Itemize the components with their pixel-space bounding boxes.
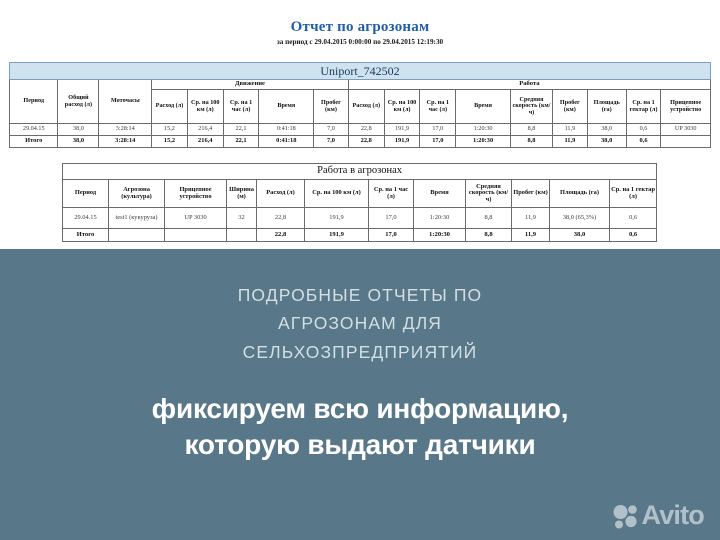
table-cell: 7,0 (314, 124, 349, 136)
col-movement-mileage: Пробег (км) (314, 90, 349, 124)
group-header-work: Работа (348, 80, 710, 90)
table-cell: UP 3030 (661, 124, 711, 136)
table2-col-6: Ср. на 1 час (л) (369, 180, 414, 208)
promo-subheading-line-2: СЕЛЬХОЗПРЕДПРИЯТИЙ (0, 338, 720, 366)
table2-col-11: Ср. на 1 гектар (л) (610, 180, 657, 208)
table-total-cell: 38,0 (58, 136, 99, 148)
avito-watermark: Avito (613, 502, 705, 529)
promo-heading-line-0: фиксируем всю информацию, (0, 391, 720, 427)
table-total-cell: 191,9 (384, 136, 420, 148)
promo-pane: ПОДРОБНЫЕ ОТЧЕТЫ ПОАГРОЗОНАМ ДЛЯСЕЛЬХОЗП… (0, 249, 720, 540)
promo-subheading-line-0: ПОДРОБНЫЕ ОТЧЕТЫ ПО (0, 281, 720, 309)
col-movement-time: Время (259, 90, 314, 124)
table-total-cell: 22,8 (257, 229, 305, 242)
col-work-avg-speed: Средняя скорость (км/ч) (510, 90, 552, 124)
table-total-cell (109, 229, 165, 242)
table-cell: 216,4 (187, 124, 223, 136)
col-work-implement: Прицепное устройство (661, 90, 711, 124)
table-total-cell (661, 136, 711, 148)
table-total-cell: 216,4 (187, 136, 223, 148)
table-total-cell: 15,2 (152, 136, 188, 148)
table2-body: 29.04.15test1 (кукуруза)UP 30303222,8191… (63, 208, 657, 242)
table-total-cell: 1:20:30 (456, 136, 511, 148)
table-total-cell: 1:20:30 (414, 229, 466, 242)
table-cell: 15,2 (152, 124, 188, 136)
table-total-cell: 17,0 (369, 229, 414, 242)
table2-col-1: Агрозона (культура) (109, 180, 165, 208)
table2-col-5: Ср. на 100 км (л) (305, 180, 369, 208)
table-cell: 11,9 (512, 208, 550, 229)
table2-col-3: Ширина (м) (227, 180, 257, 208)
col-work-area: Площадь (га) (587, 90, 626, 124)
table-total-cell: 7,0 (314, 136, 349, 148)
table-cell: 0:41:18 (259, 124, 314, 136)
table-total-cell: 22,8 (348, 136, 384, 148)
table-cell: 11,9 (553, 124, 588, 136)
table2-col-7: Время (414, 180, 466, 208)
table-cell: 1:20:30 (456, 124, 511, 136)
col-movement-avg-100km: Ср. на 100 км (л) (187, 90, 223, 124)
table-cell: 32 (227, 208, 257, 229)
table-cell: 0,6 (610, 208, 657, 229)
table-row: 29.04.15test1 (кукуруза)UP 30303222,8191… (63, 208, 657, 229)
table-cell: 191,9 (305, 208, 369, 229)
table-total-cell: 0,6 (626, 136, 661, 148)
promo-heading: фиксируем всю информацию,которую выдают … (0, 391, 720, 463)
promo-subheading: ПОДРОБНЫЕ ОТЧЕТЫ ПОАГРОЗОНАМ ДЛЯСЕЛЬХОЗП… (0, 281, 720, 366)
table-cell: 29.04.15 (10, 124, 58, 136)
table-total-cell: 38,0 (587, 136, 626, 148)
col-movement-avg-hour: Ср. на 1 час (л) (223, 90, 259, 124)
table-cell: 1:20:30 (414, 208, 466, 229)
table-total-cell: 11,9 (512, 229, 550, 242)
col-work-avg-100km: Ср. на 100 км (л) (384, 90, 420, 124)
table2-col-9: Пробег (км) (512, 180, 550, 208)
table-cell: 38,0 (58, 124, 99, 136)
table1-body: 29.04.1538,03:28:1415,2216,422,10:41:187… (10, 124, 711, 148)
avito-dots-icon (613, 503, 639, 529)
col-work-mileage: Пробег (км) (553, 90, 588, 124)
table-total-cell: 191,9 (305, 229, 369, 242)
col-work-per-hectare: Ср. на 1 гектар (л) (626, 90, 661, 124)
col-period: Период (10, 80, 58, 124)
table-caption-row: Uniport_742502 (10, 63, 711, 80)
vehicle-summary-table: Uniport_742502 ПериодОбщий расход (л)Мот… (9, 62, 711, 148)
table-total-cell (165, 229, 227, 242)
table-total-cell: 22,1 (223, 136, 259, 148)
table-row: 29.04.1538,03:28:1415,2216,422,10:41:187… (10, 124, 711, 136)
table-total-cell: 8,8 (510, 136, 552, 148)
table2-header-row: ПериодАгрозона (культура)Прицепное устро… (63, 180, 657, 208)
table-cell: 22,8 (257, 208, 305, 229)
col-engine-hours: Моточасы (99, 80, 152, 124)
table2-col-2: Прицепное устройство (165, 180, 227, 208)
table-cell: 3:28:14 (99, 124, 152, 136)
table-total-cell: 17,0 (420, 136, 456, 148)
table1-group-header-row: ПериодОбщий расход (л)Моточасы Движение … (10, 80, 711, 90)
table-total-cell: 8,8 (466, 229, 512, 242)
table-cell: 22,1 (223, 124, 259, 136)
table2-col-4: Расход (л) (257, 180, 305, 208)
table2-col-0: Период (63, 180, 109, 208)
table-total-row: Итого38,03:28:1415,2216,422,10:41:187,02… (10, 136, 711, 148)
table-cell: 38,0 (587, 124, 626, 136)
table2-caption: Работа в агрозонах (63, 164, 657, 180)
agrozone-work-table: Работа в агрозонах ПериодАгрозона (культ… (62, 163, 657, 242)
table-total-row: Итого22,8191,917,01:20:308,811,938,00,6 (63, 229, 657, 242)
table-cell: 191,9 (384, 124, 420, 136)
avito-wordmark: Avito (642, 502, 705, 529)
col-movement-consumption: Расход (л) (152, 90, 188, 124)
table-total-cell (227, 229, 257, 242)
table2-caption-row: Работа в агрозонах (63, 164, 657, 180)
promo-subheading-line-1: АГРОЗОНАМ ДЛЯ (0, 309, 720, 337)
promo-heading-line-1: которую выдают датчики (0, 427, 720, 463)
table-cell: 38,0 (65,3%) (550, 208, 610, 229)
table2-col-10: Площадь (га) (550, 180, 610, 208)
group-header-movement: Движение (152, 80, 349, 90)
table-total-cell: 11,9 (553, 136, 588, 148)
table-cell: 8,8 (466, 208, 512, 229)
agrozone-work-table-wrap: Работа в агрозонах ПериодАгрозона (культ… (62, 163, 656, 242)
table-cell: 29.04.15 (63, 208, 109, 229)
table-total-cell: 38,0 (550, 229, 610, 242)
table1-caption: Uniport_742502 (10, 63, 711, 80)
col-total-consumption: Общий расход (л) (58, 80, 99, 124)
report-subtitle-period: за период с 29.04.2015 0:00:00 по 29.04.… (0, 39, 720, 47)
table-total-cell: 3:28:14 (99, 136, 152, 148)
col-work-time: Время (456, 90, 511, 124)
table-cell: 0,6 (626, 124, 661, 136)
col-work-avg-hour: Ср. на 1 час (л) (420, 90, 456, 124)
table-total-cell: 0:41:18 (259, 136, 314, 148)
table-cell: UP 3030 (165, 208, 227, 229)
table-cell: 22,8 (348, 124, 384, 136)
table-cell: test1 (кукуруза) (109, 208, 165, 229)
table-cell: 17,0 (420, 124, 456, 136)
col-work-consumption: Расход (л) (348, 90, 384, 124)
table-total-cell: 0,6 (610, 229, 657, 242)
table-cell: 17,0 (369, 208, 414, 229)
table-cell: 8,8 (510, 124, 552, 136)
vehicle-summary-table-wrap: Uniport_742502 ПериодОбщий расход (л)Мот… (9, 62, 711, 148)
report-title: Отчет по агрозонам (0, 19, 720, 36)
report-pane: Отчет по агрозонам за период с 29.04.201… (0, 0, 720, 249)
table2-col-8: Средняя скорость (км/ч) (466, 180, 512, 208)
table-total-cell: Итого (10, 136, 58, 148)
table-total-cell: Итого (63, 229, 109, 242)
